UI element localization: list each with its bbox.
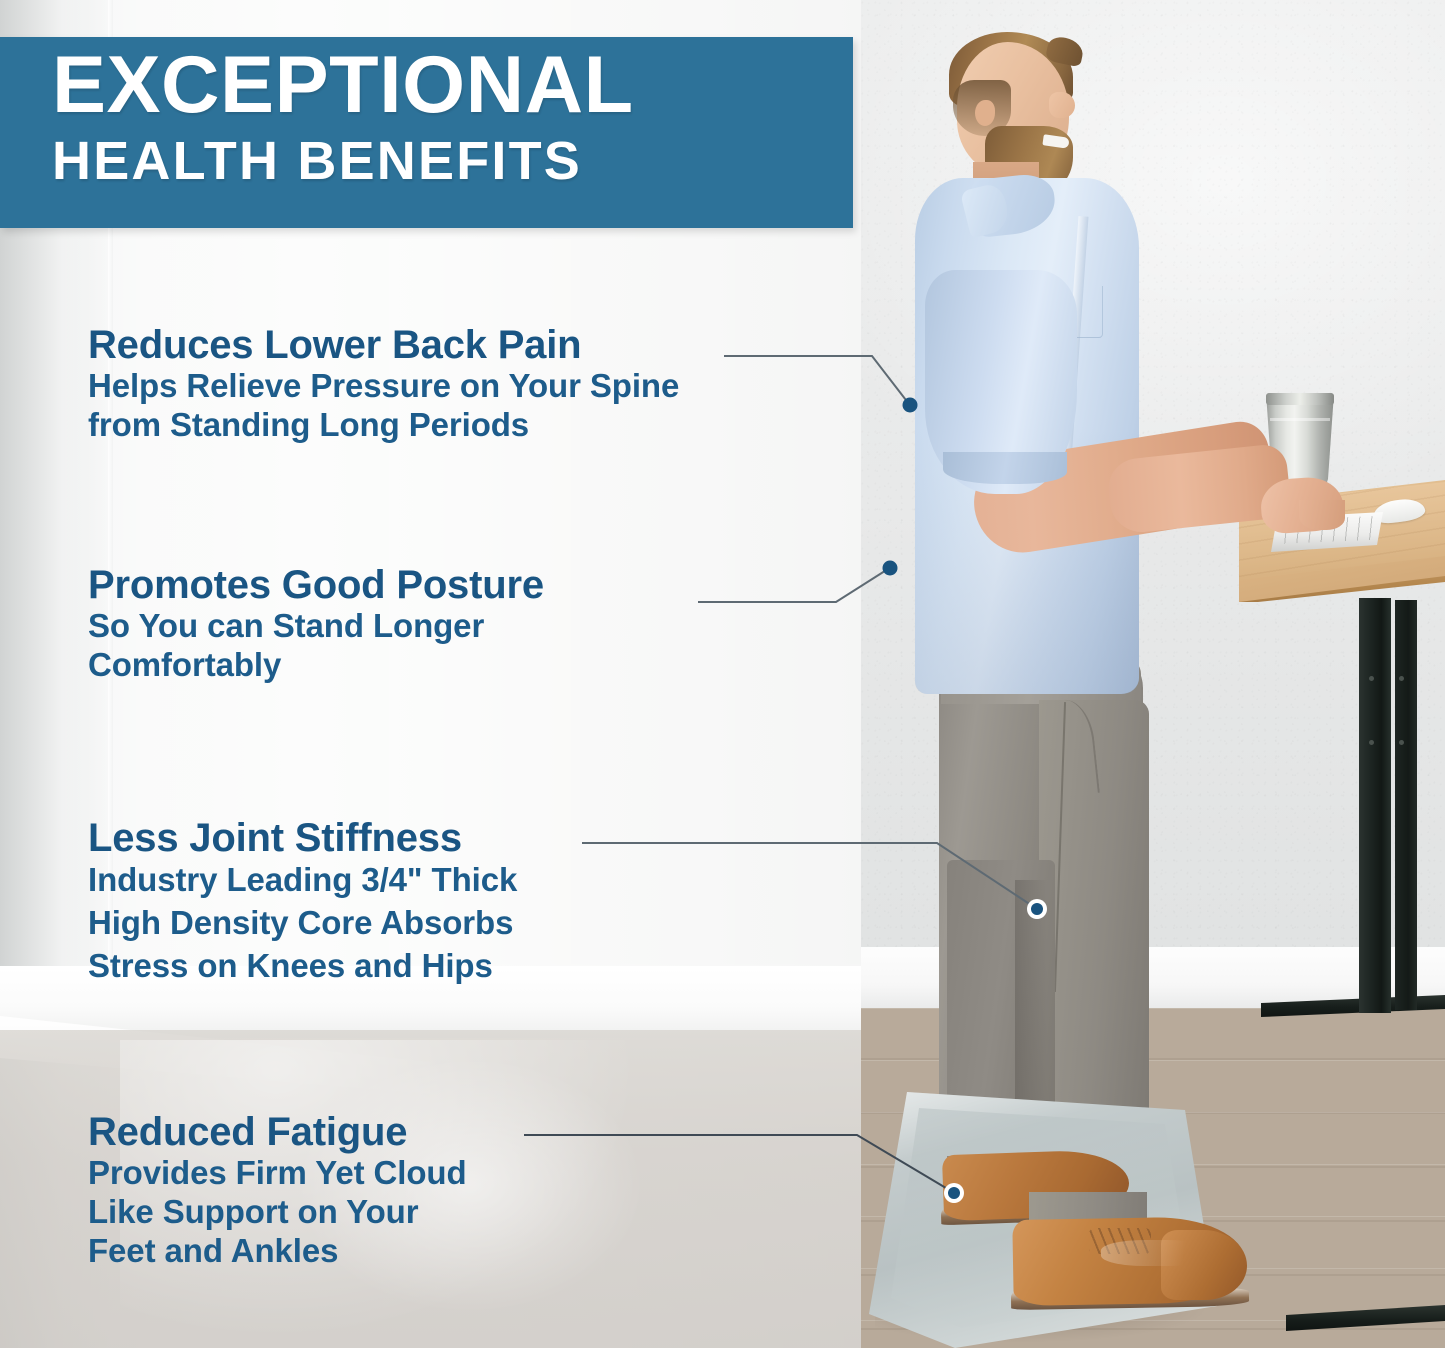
person-ear: [975, 100, 995, 126]
tumbler-lid: [1266, 393, 1334, 405]
tumbler-highlight: [1270, 418, 1330, 421]
benefit-line-4-3: Feet and Ankles: [88, 1231, 467, 1270]
benefit-block-2: Promotes Good Posture So You can Stand L…: [88, 565, 544, 684]
desk-leg-bolt: [1399, 740, 1404, 745]
benefit-line-3-1: Industry Leading 3/4" Thick: [88, 859, 517, 902]
person-nose: [1049, 92, 1075, 118]
benefit-line-1-1: Helps Relieve Pressure on Your Spine: [88, 366, 679, 405]
header-banner: EXCEPTIONAL HEALTH BENEFITS: [0, 37, 853, 228]
benefit-line-4-1: Provides Firm Yet Cloud: [88, 1153, 467, 1192]
banner-title-line1: EXCEPTIONAL: [52, 47, 853, 125]
benefit-title-1: Reduces Lower Back Pain: [88, 325, 679, 366]
desk-leg-bolt: [1369, 740, 1374, 745]
benefit-block-3: Less Joint Stiffness Industry Leading 3/…: [88, 818, 517, 987]
person-fingers: [1299, 500, 1345, 530]
benefit-block-4: Reduced Fatigue Provides Firm Yet Cloud …: [88, 1112, 467, 1271]
benefit-line-1-2: from Standing Long Periods: [88, 405, 679, 444]
infographic-canvas: EXCEPTIONAL HEALTH BENEFITS Reduces Lowe…: [0, 0, 1445, 1348]
desk-leg-bolt: [1369, 676, 1374, 681]
benefit-title-3: Less Joint Stiffness: [88, 818, 517, 859]
banner-title-line2: HEALTH BENEFITS: [52, 133, 853, 189]
benefit-title-2: Promotes Good Posture: [88, 565, 544, 606]
benefit-line-3-3: Stress on Knees and Hips: [88, 945, 517, 988]
shoe-highlight: [1101, 1240, 1211, 1266]
shirt-sleeve-hem: [943, 452, 1067, 484]
callout-connector-2: [698, 558, 908, 618]
desk-leg-bolt: [1399, 676, 1404, 681]
benefit-line-3-2: High Density Core Absorbs: [88, 902, 517, 945]
benefit-line-4-2: Like Support on Your: [88, 1192, 467, 1231]
desk-leg-column: [1359, 598, 1391, 1013]
desk-leg-column-inner: [1395, 600, 1417, 1010]
callout-connector-3: [582, 833, 1052, 933]
benefit-line-2-2: Comfortably: [88, 645, 544, 684]
callout-connector-1: [724, 348, 924, 418]
benefit-line-2-1: So You can Stand Longer: [88, 606, 544, 645]
benefit-block-1: Reduces Lower Back Pain Helps Relieve Pr…: [88, 325, 679, 444]
callout-connector-4: [524, 1126, 974, 1216]
benefit-title-4: Reduced Fatigue: [88, 1112, 467, 1153]
